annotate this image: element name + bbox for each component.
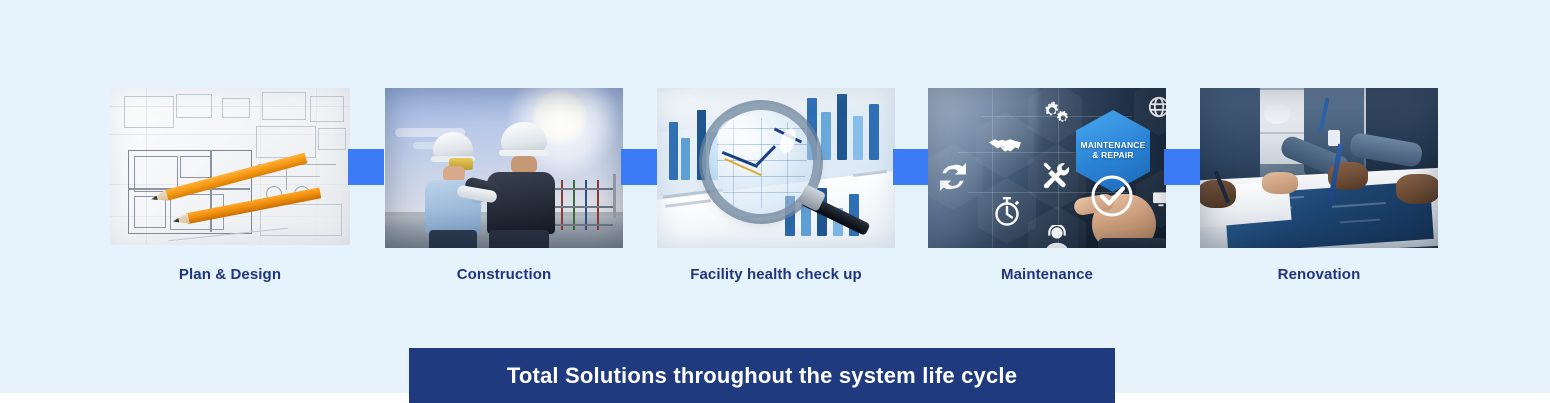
stage-construction[interactable]: Construction [385, 88, 623, 288]
stage-renovation[interactable]: Renovation [1200, 88, 1438, 288]
stage-plan-design-label: Plan & Design [110, 266, 350, 283]
stage-facility-health-check-up-label: Facility health check up [657, 266, 895, 283]
connector-4 [1164, 149, 1200, 185]
stage-renovation-label: Renovation [1200, 266, 1438, 283]
stage-renovation-image [1200, 88, 1438, 248]
summary-banner: Total Solutions throughout the system li… [409, 348, 1115, 403]
connector-2 [621, 149, 657, 185]
stage-maintenance[interactable]: MAINTENANCE & REPAIR [928, 88, 1166, 288]
connector-1 [348, 149, 384, 185]
lifecycle-diagram: Plan & Design [0, 0, 1550, 403]
stage-construction-label: Construction [385, 266, 623, 283]
stage-maintenance-image: MAINTENANCE & REPAIR [928, 88, 1166, 248]
stage-plan-design-image [110, 88, 350, 245]
stage-plan-design[interactable]: Plan & Design [110, 88, 350, 288]
stage-facility-health-check-up-image [657, 88, 895, 248]
summary-banner-text: Total Solutions throughout the system li… [507, 363, 1017, 389]
stage-maintenance-label: Maintenance [928, 266, 1166, 283]
stage-facility-health-check-up[interactable]: Facility health check up [657, 88, 895, 288]
stage-construction-image [385, 88, 623, 248]
connector-3 [893, 149, 929, 185]
